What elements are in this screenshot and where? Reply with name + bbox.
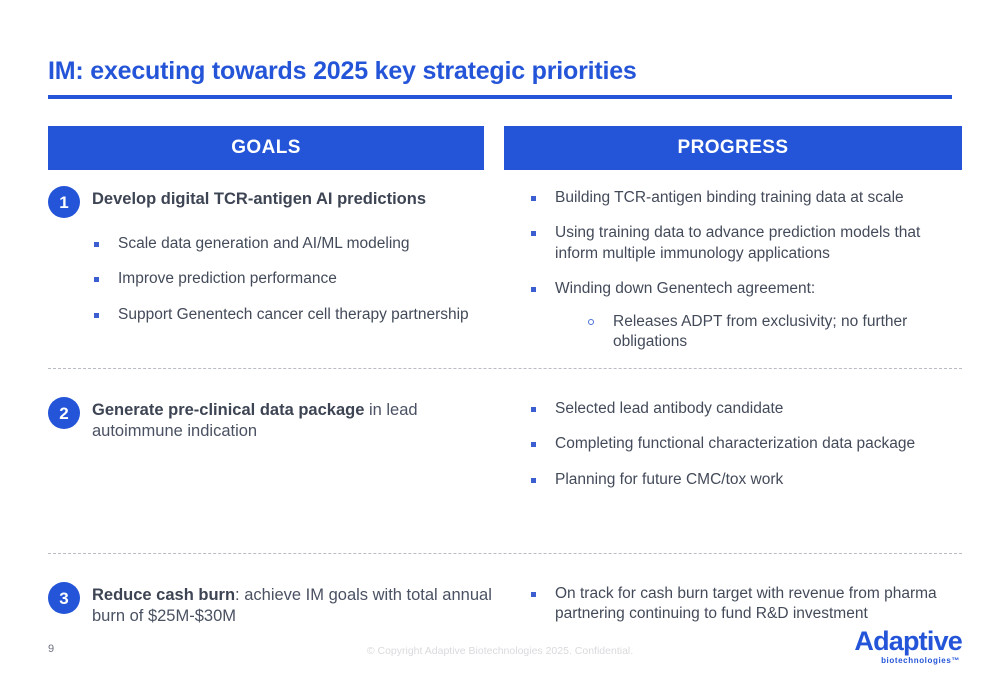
square-bullet-icon [531,407,536,412]
column-header-goals: GOALS [48,126,484,170]
square-bullet-icon [94,313,99,318]
progress-bullet-list: Building TCR-antigen binding training da… [509,188,962,353]
goal-bullet-text: Support Genentech cancer cell therapy pa… [118,306,469,323]
goal-bullet-text: Improve prediction performance [118,270,337,287]
goal-number-badge: 1 [48,186,80,218]
company-logo: Adaptive biotechnologies™ [854,628,962,665]
square-bullet-icon [531,592,536,597]
progress-sub-bullet-list: Releases ADPT from exclusivity; no furth… [555,312,962,353]
row-divider [48,368,962,369]
goal-bullet-item: Support Genentech cancer cell therapy pa… [90,305,503,325]
goal-title-bold: Generate pre-clinical data package [92,401,364,419]
square-bullet-icon [531,231,536,236]
goal-title: Generate pre-clinical data package in le… [92,397,503,442]
goal-title: Develop digital TCR-antigen AI predictio… [92,186,503,210]
goal-heading: 3Reduce cash burn: achieve IM goals with… [48,582,503,627]
progress-bullet-item: Building TCR-antigen binding training da… [527,188,962,208]
circle-bullet-icon [588,319,594,325]
goal-bullet-text: Scale data generation and AI/ML modeling [118,235,410,252]
content-rows: 1Develop digital TCR-antigen AI predicti… [48,182,962,656]
content-row: 1Develop digital TCR-antigen AI predicti… [48,182,962,358]
square-bullet-icon [94,242,99,247]
logo-tagline: biotechnologies™ [854,657,960,665]
progress-bullet-text: On track for cash burn target with reven… [555,585,937,622]
square-bullet-icon [531,478,536,483]
title-block: IM: executing towards 2025 key strategic… [48,58,952,99]
row-divider [48,553,962,554]
goal-cell: 1Develop digital TCR-antigen AI predicti… [48,182,503,358]
column-header-progress: PROGRESS [504,126,962,170]
goal-number-badge: 2 [48,397,80,429]
progress-sub-bullet-item: Releases ADPT from exclusivity; no furth… [585,312,962,353]
copyright-notice: © Copyright Adaptive Biotechnologies 202… [0,645,1000,657]
goal-heading: 1Develop digital TCR-antigen AI predicti… [48,186,503,220]
progress-bullet-item: Winding down Genentech agreement:Release… [527,279,962,352]
progress-bullet-text: Planning for future CMC/tox work [555,471,783,488]
goal-bullet-item: Improve prediction performance [90,269,503,289]
progress-bullet-item: Using training data to advance predictio… [527,223,962,264]
progress-bullet-item: Selected lead antibody candidate [527,399,962,419]
goal-title-bold: Develop digital TCR-antigen AI predictio… [92,190,426,208]
content-row: 2Generate pre-clinical data package in l… [48,393,962,543]
progress-bullet-text: Completing functional characterization d… [555,435,915,452]
progress-bullet-list: On track for cash burn target with reven… [509,584,962,625]
slide: IM: executing towards 2025 key strategic… [0,0,1000,685]
progress-bullet-list: Selected lead antibody candidateCompleti… [509,399,962,490]
square-bullet-icon [531,442,536,447]
goal-number-badge: 3 [48,582,80,614]
goal-title-bold: Reduce cash burn [92,586,235,604]
goal-title: Reduce cash burn: achieve IM goals with … [92,582,503,627]
title-underline-rule [48,95,952,99]
progress-bullet-text: Building TCR-antigen binding training da… [555,189,904,206]
column-headers: GOALS PROGRESS [48,126,962,170]
progress-bullet-text: Selected lead antibody candidate [555,400,783,417]
progress-bullet-item: On track for cash burn target with reven… [527,584,962,625]
goal-bullet-list: Scale data generation and AI/ML modeling… [48,234,503,325]
progress-cell: Selected lead antibody candidateCompleti… [503,393,962,543]
goal-cell: 2Generate pre-clinical data package in l… [48,393,503,543]
square-bullet-icon [531,287,536,292]
square-bullet-icon [94,277,99,282]
progress-bullet-item: Completing functional characterization d… [527,434,962,454]
progress-bullet-text: Winding down Genentech agreement: [555,280,815,297]
goal-heading: 2Generate pre-clinical data package in l… [48,397,503,442]
square-bullet-icon [531,196,536,201]
progress-bullet-item: Planning for future CMC/tox work [527,470,962,490]
goal-bullet-item: Scale data generation and AI/ML modeling [90,234,503,254]
progress-bullet-text: Using training data to advance predictio… [555,224,920,261]
progress-sub-bullet-text: Releases ADPT from exclusivity; no furth… [613,313,907,350]
progress-cell: Building TCR-antigen binding training da… [503,182,962,358]
page-title: IM: executing towards 2025 key strategic… [48,58,952,86]
logo-wordmark: Adaptive [854,628,962,655]
